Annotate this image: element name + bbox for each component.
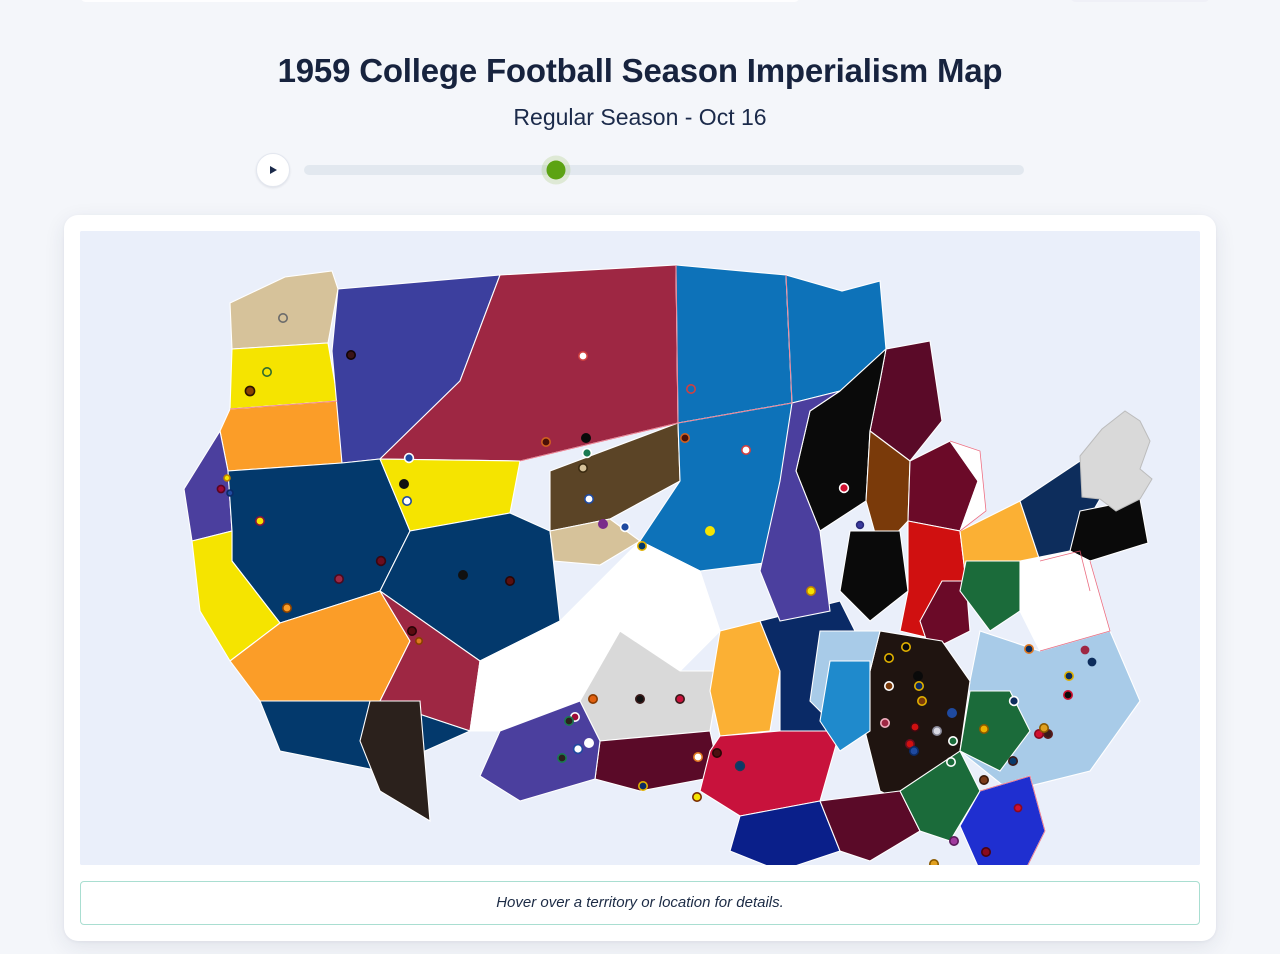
team-marker[interactable] <box>1014 804 1021 811</box>
team-marker[interactable] <box>416 638 422 644</box>
team-marker[interactable] <box>918 697 926 705</box>
team-marker[interactable] <box>902 643 910 651</box>
team-marker[interactable] <box>459 571 467 579</box>
team-marker[interactable] <box>579 464 587 472</box>
team-marker[interactable] <box>585 739 593 747</box>
team-marker[interactable] <box>948 709 956 717</box>
team-marker[interactable] <box>565 717 573 725</box>
team-marker[interactable] <box>1081 646 1088 653</box>
team-marker[interactable] <box>217 485 224 492</box>
team-marker[interactable] <box>949 737 957 745</box>
team-marker[interactable] <box>542 438 550 446</box>
map-canvas[interactable] <box>80 231 1200 865</box>
slider-thumb[interactable] <box>547 160 566 179</box>
team-marker[interactable] <box>1025 645 1033 653</box>
team-marker[interactable] <box>947 758 955 766</box>
team-marker[interactable] <box>980 725 988 733</box>
timeline-slider[interactable] <box>304 153 1024 187</box>
team-marker[interactable] <box>1065 672 1073 680</box>
territory-pacific-nw-yellow[interactable] <box>230 343 338 409</box>
team-marker[interactable] <box>579 352 587 360</box>
team-marker[interactable] <box>638 542 646 550</box>
team-marker[interactable] <box>227 490 233 496</box>
team-marker[interactable] <box>558 754 566 762</box>
territory-oregon-orange[interactable] <box>220 401 342 471</box>
team-marker[interactable] <box>574 745 583 754</box>
team-marker[interactable] <box>914 672 922 680</box>
team-marker[interactable] <box>224 475 230 481</box>
team-marker[interactable] <box>1010 697 1019 706</box>
team-marker[interactable] <box>636 695 644 703</box>
team-marker[interactable] <box>911 723 919 731</box>
timeline-controls <box>0 153 1280 187</box>
imperialism-map-svg <box>80 231 1200 865</box>
team-marker[interactable] <box>582 434 590 442</box>
team-marker[interactable] <box>881 719 889 727</box>
team-marker[interactable] <box>279 314 287 322</box>
team-marker[interactable] <box>585 495 593 503</box>
team-marker[interactable] <box>506 577 514 585</box>
team-marker[interactable] <box>982 848 990 856</box>
team-marker[interactable] <box>589 695 597 703</box>
team-marker[interactable] <box>713 749 721 757</box>
play-icon <box>267 164 279 176</box>
hover-hint-text: Hover over a territory or location for d… <box>496 894 784 911</box>
team-marker[interactable] <box>583 449 592 458</box>
team-marker[interactable] <box>693 793 701 801</box>
team-marker[interactable] <box>1088 658 1095 665</box>
team-marker[interactable] <box>930 860 938 865</box>
team-marker[interactable] <box>885 654 893 662</box>
team-marker[interactable] <box>840 484 849 493</box>
play-button[interactable] <box>256 153 290 187</box>
team-marker[interactable] <box>400 480 408 488</box>
team-marker[interactable] <box>687 385 695 393</box>
team-marker[interactable] <box>283 604 291 612</box>
team-marker[interactable] <box>256 517 264 525</box>
team-marker[interactable] <box>915 682 923 690</box>
team-marker[interactable] <box>706 527 714 535</box>
page-subtitle: Regular Season - Oct 16 <box>0 90 1280 131</box>
cutoff-top-bar <box>80 0 800 2</box>
map-card: Hover over a territory or location for d… <box>64 215 1216 941</box>
team-marker[interactable] <box>245 386 254 395</box>
team-marker[interactable] <box>405 454 414 463</box>
team-marker[interactable] <box>621 523 630 532</box>
team-marker[interactable] <box>1009 757 1017 765</box>
team-marker[interactable] <box>676 695 684 703</box>
team-marker[interactable] <box>933 727 941 735</box>
team-marker[interactable] <box>736 762 745 771</box>
page-title: 1959 College Football Season Imperialism… <box>0 0 1280 90</box>
team-marker[interactable] <box>263 368 271 376</box>
team-marker[interactable] <box>980 776 988 784</box>
team-marker[interactable] <box>599 520 607 528</box>
team-marker[interactable] <box>742 446 750 454</box>
team-marker[interactable] <box>1064 691 1072 699</box>
team-marker[interactable] <box>910 747 918 755</box>
team-marker[interactable] <box>335 575 343 583</box>
team-marker[interactable] <box>950 837 958 845</box>
hover-details-bar: Hover over a territory or location for d… <box>80 881 1200 925</box>
team-marker[interactable] <box>694 753 702 761</box>
team-marker[interactable] <box>885 682 893 690</box>
team-marker[interactable] <box>408 627 416 635</box>
team-marker[interactable] <box>681 434 689 442</box>
team-marker[interactable] <box>1040 724 1048 732</box>
team-marker[interactable] <box>807 587 815 595</box>
territory-dakotas-blue[interactable] <box>676 265 792 423</box>
slider-track[interactable] <box>304 165 1024 175</box>
team-marker[interactable] <box>639 782 647 790</box>
team-marker[interactable] <box>347 351 355 359</box>
team-marker[interactable] <box>857 522 864 529</box>
team-marker[interactable] <box>403 497 411 505</box>
team-marker[interactable] <box>377 557 386 566</box>
cutoff-top-bar-right <box>1070 0 1210 2</box>
